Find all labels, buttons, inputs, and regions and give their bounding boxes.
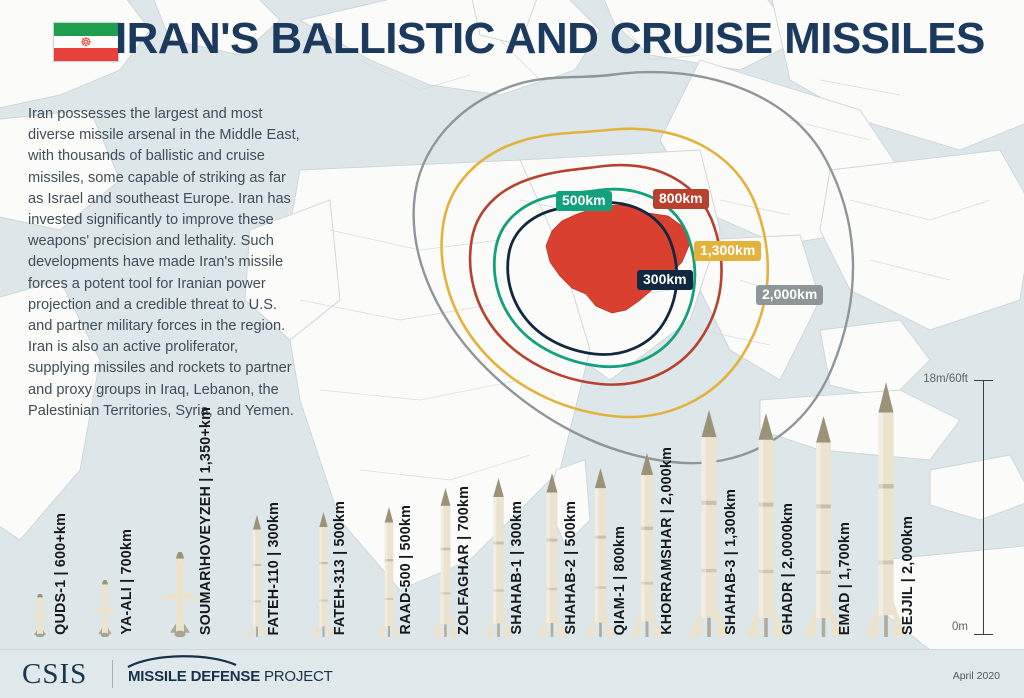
missile-silhouette — [93, 580, 117, 637]
ring-label-2000km: 2,000km — [756, 285, 823, 305]
missile-label-khorramshar: KHORRAMSHAR | 2,000km — [659, 447, 675, 635]
scale-bar — [983, 380, 984, 635]
footer: CSIS MISSILE DEFENSE PROJECT April 2020 — [0, 649, 1024, 698]
missile-silhouette — [162, 552, 198, 637]
mdp-bold: MISSILE DEFENSE — [128, 668, 260, 685]
scale-bottom-label: 0m — [952, 621, 968, 633]
missile-label-shahab-1: SHAHAB-1 | 300km — [509, 501, 525, 635]
mdp-logo: MISSILE DEFENSE PROJECT — [128, 669, 333, 684]
ring-label-800km: 800km — [653, 189, 709, 209]
missile-label-quds-1: QUDS-1 | 600+km — [53, 513, 69, 635]
footer-divider — [112, 660, 113, 688]
scale-top-label: 18m/60ft — [923, 373, 968, 385]
iran-flag: ☸ — [53, 22, 119, 62]
iran-emblem-icon: ☸ — [80, 36, 92, 49]
mdp-arc-icon — [126, 654, 238, 668]
missile-label-fateh-110: FATEH-110 | 300km — [266, 502, 282, 636]
missile-label-qiam-1: QIAM-1 | 800km — [612, 526, 628, 635]
missile-quds-1 — [29, 594, 51, 637]
intro-paragraph: Iran possesses the largest and most dive… — [28, 104, 300, 422]
publication-date: April 2020 — [953, 670, 1000, 682]
missile-label-zolfaghar: ZOLFAGHAR | 700km — [456, 486, 472, 635]
ring-label-300km: 300km — [637, 270, 693, 290]
missile-label-shahab-2: SHAHAB-2 | 500km — [563, 501, 579, 635]
infographic-root: 500km 800km 1,300km 300km 2,000km ☸ IRAN… — [0, 0, 1024, 698]
missile-soumar-hoveyzeh — [162, 552, 198, 637]
missile-label-soumar-hoveyzeh: SOUMAR\HOVEYZEH | 1,350+km — [198, 407, 214, 635]
missile-label-raad-500: RAAD-500 | 500km — [398, 505, 414, 635]
missile-label-emad: EMAD | 1,700km — [837, 522, 853, 635]
csis-logo: CSIS — [22, 660, 87, 689]
missile-label-ya-ali: YA-ALI | 700km — [119, 529, 135, 635]
ring-label-1300km: 1,300km — [694, 241, 761, 261]
header: ☸ IRAN'S BALLISTIC AND CRUISE MISSILES — [0, 0, 1024, 78]
missile-label-shahab-3: SHAHAB-3 | 1,300km — [723, 489, 739, 635]
missile-label-sejjil: SEJJIL | 2,000km — [900, 516, 916, 635]
missile-label-ghadr: GHADR | 2,0000km — [780, 503, 796, 635]
missile-silhouette — [29, 594, 51, 637]
missile-ya-ali — [93, 580, 117, 637]
ring-label-500km: 500km — [556, 191, 612, 211]
page-title: IRAN'S BALLISTIC AND CRUISE MISSILES — [115, 14, 1015, 64]
missile-label-fateh-313: FATEH-313 | 500km — [332, 501, 348, 635]
mdp-light: PROJECT — [260, 668, 333, 685]
